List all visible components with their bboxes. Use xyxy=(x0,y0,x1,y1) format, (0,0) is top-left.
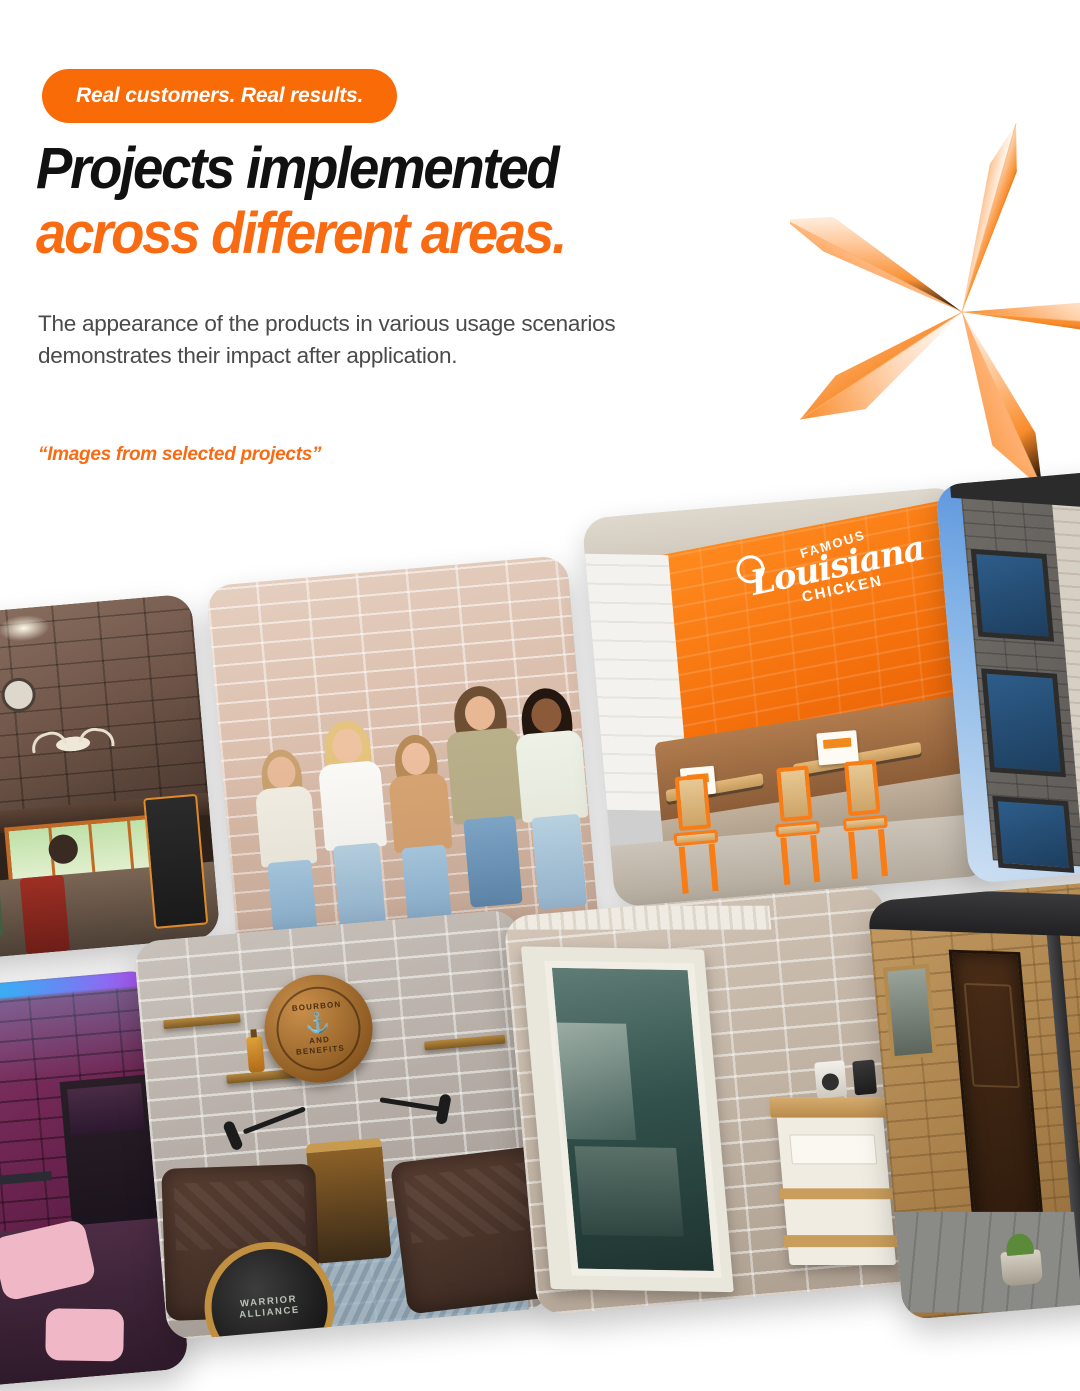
eyebrow-badge: Real customers. Real results. xyxy=(42,69,397,123)
gallery-tile-team-group-photo[interactable] xyxy=(206,555,600,970)
photo-patio-door xyxy=(503,884,916,1316)
gallery-tile-podcast-studio[interactable]: BOURBON ⚓ AND BENEFITS WARRIOR ALLIANCE xyxy=(133,909,551,1341)
gallery-tile-exterior-porch[interactable] xyxy=(867,880,1080,1321)
project-image-gallery: FAMOUS Louisiana CHICKEN xyxy=(0,460,1080,1350)
photo-team-group xyxy=(206,555,600,970)
photo-exterior-porch xyxy=(867,880,1080,1321)
sign-text-benefits: BENEFITS xyxy=(296,1044,346,1058)
page-title: Projects implemented across different ar… xyxy=(36,140,694,263)
photo-podcast-studio: BOURBON ⚓ AND BENEFITS WARRIOR ALLIANCE xyxy=(133,909,551,1341)
photo-louisiana-chicken: FAMOUS Louisiana CHICKEN xyxy=(582,486,993,907)
page-subtitle: The appearance of the products in variou… xyxy=(38,308,728,372)
header-section: Real customers. Real results. Projects i… xyxy=(0,0,1080,500)
photo-motorcycle-workshop xyxy=(0,594,221,962)
gallery-caption: “Images from selected projects” xyxy=(38,444,321,466)
page-title-line-1: Projects implemented xyxy=(36,136,557,201)
gallery-tile-louisiana-chicken-restaurant[interactable]: FAMOUS Louisiana CHICKEN xyxy=(582,486,993,907)
sign-icon-emblem: ⚓ xyxy=(304,1013,332,1035)
gallery-tile-motorcycle-workshop[interactable] xyxy=(0,594,221,962)
page-title-line-2: across different areas. xyxy=(36,205,694,262)
gallery-tile-patio-sliding-door[interactable] xyxy=(503,884,916,1316)
